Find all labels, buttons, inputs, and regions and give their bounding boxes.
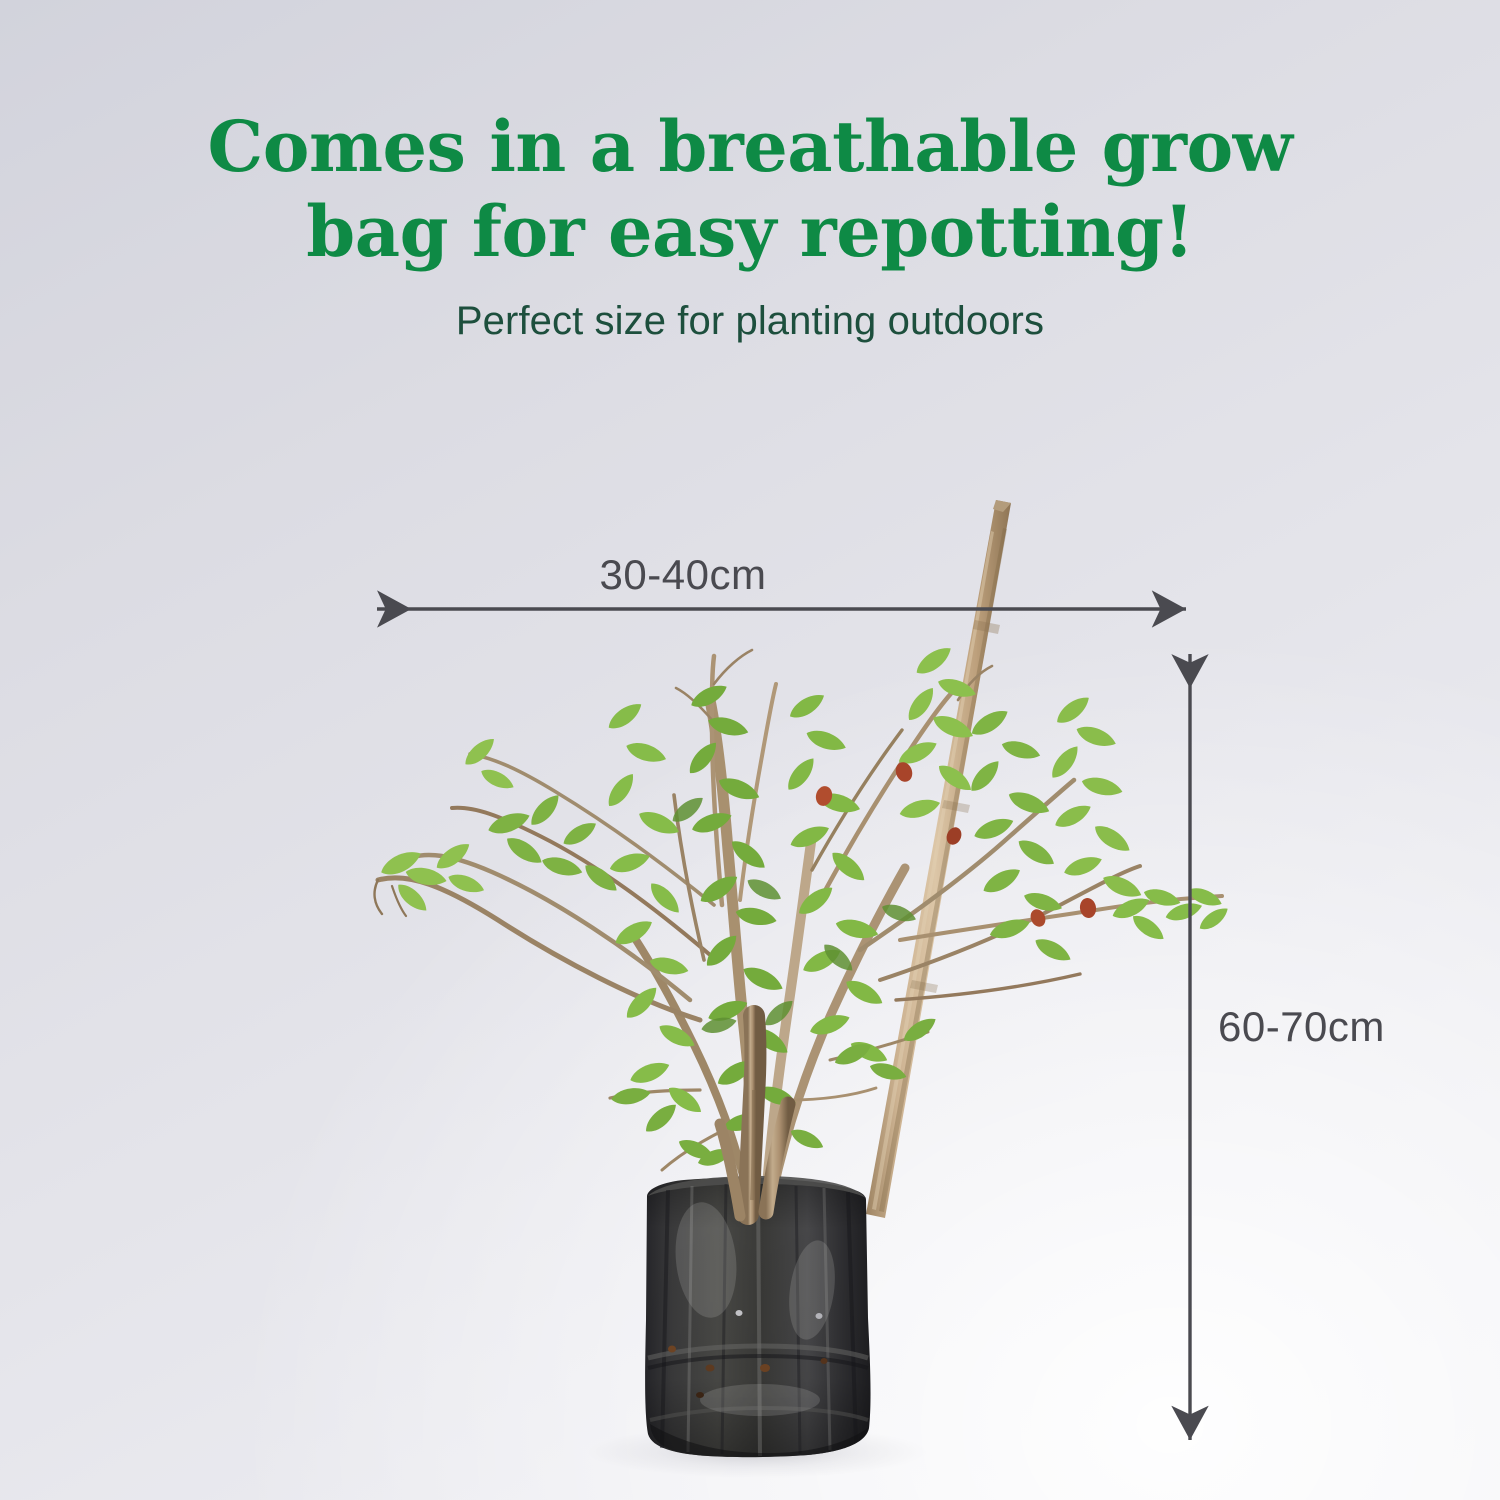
promo-headline: Comes in a breathable grow bag for easy …: [0, 104, 1500, 275]
bamboo-stake: [866, 500, 1011, 1218]
product-image-canvas: Comes in a breathable grow bag for easy …: [0, 0, 1500, 1500]
height-dimension-label: 60-70cm: [1218, 1003, 1385, 1051]
width-dimension-label: 30-40cm: [483, 551, 883, 599]
promo-subtitle: Perfect size for planting outdoors: [0, 299, 1500, 344]
